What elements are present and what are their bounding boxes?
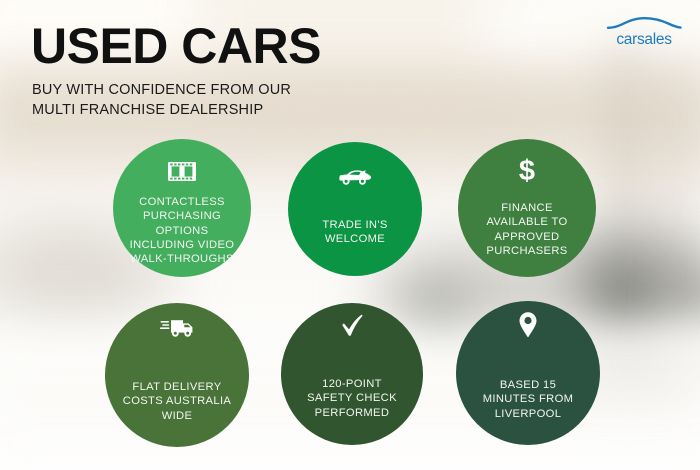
map-pin-icon [511,310,545,340]
promotional-banner: USED CARS BUY WITH CONFIDENCE FROM OUR M… [0,0,700,470]
feature-circle-safety-check[interactable]: 120-POINT SAFETY CHECK PERFORMED [281,303,423,445]
feature-label-based-near-liverpool: BASED 15 MINUTES FROM LIVERPOOL [475,378,582,421]
carsales-wordmark: carsales [616,31,672,48]
carsales-logo[interactable]: carsales [602,14,686,48]
car-outline-icon [608,18,681,28]
page-subtitle-line-1: BUY WITH CONFIDENCE FROM OUR [32,80,291,100]
feature-label-finance-available: FINANCE AVAILABLE TO APPROVED PURCHASERS [478,201,575,258]
sports-car-icon [338,162,372,192]
feature-circle-finance-available[interactable]: $ FINANCE AVAILABLE TO APPROVED PURCHASE… [458,139,596,277]
feature-circle-trade-ins-welcome[interactable]: TRADE IN'S WELCOME [288,142,422,276]
feature-circle-contactless-purchasing[interactable]: CONTACTLESS PURCHASING OPTIONS INCLUDING… [113,139,251,277]
feature-label-flat-delivery-costs: FLAT DELIVERY COSTS AUSTRALIA WIDE [115,380,239,423]
page-subtitle-line-2: MULTI FRANCHISE DEALERSHIP [32,100,291,120]
checkmark-icon [335,311,369,341]
page-subtitle: BUY WITH CONFIDENCE FROM OUR MULTI FRANC… [32,80,291,120]
feature-circle-flat-delivery-costs[interactable]: FLAT DELIVERY COSTS AUSTRALIA WIDE [105,303,249,447]
background-wheel-right [596,268,654,326]
dollar-sign-icon: $ [510,155,544,185]
page-title: USED CARS [31,21,321,71]
feature-label-trade-ins-welcome: TRADE IN'S WELCOME [314,218,395,247]
delivery-van-icon [160,312,194,342]
feature-circle-based-near-liverpool[interactable]: BASED 15 MINUTES FROM LIVERPOOL [456,301,600,445]
film-strip-icon [165,156,199,186]
feature-label-contactless-purchasing: CONTACTLESS PURCHASING OPTIONS INCLUDING… [122,195,243,266]
svg-text:$: $ [519,155,535,185]
feature-label-safety-check: 120-POINT SAFETY CHECK PERFORMED [299,377,405,420]
background-wheel-center [408,282,462,336]
